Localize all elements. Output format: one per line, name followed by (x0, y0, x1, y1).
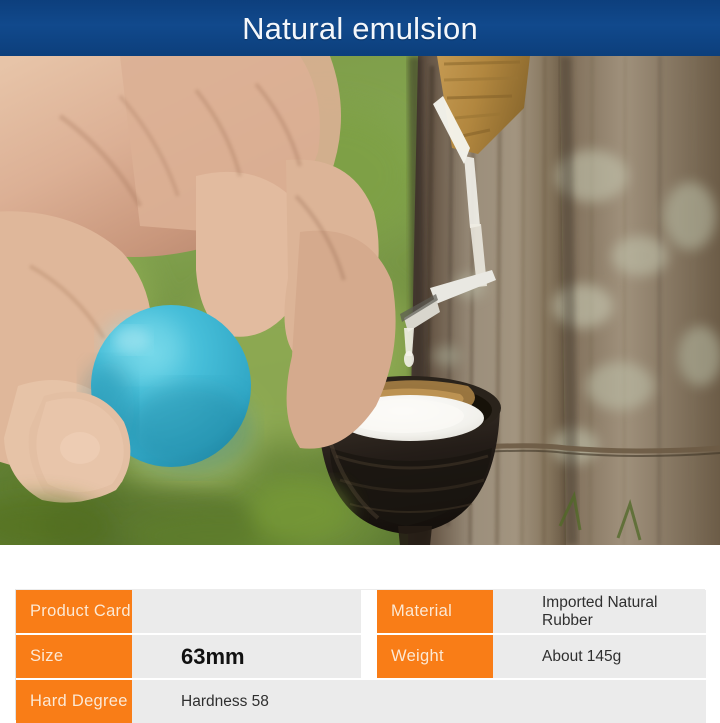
spec-label-material: Material (377, 590, 493, 633)
spec-value-product-card (132, 590, 361, 633)
spec-table: Product Card Material Imported Natural R… (15, 589, 705, 720)
column-gap (361, 635, 377, 678)
spec-value-material: Imported Natural Rubber (493, 590, 706, 633)
table-row: Hard Degree Hardness 58 (16, 680, 706, 723)
column-gap (361, 590, 377, 633)
product-listing-page: Natural emulsion (0, 0, 720, 720)
spec-label-product-card: Product Card (16, 590, 132, 633)
spec-label-hard-degree: Hard Degree (16, 680, 132, 723)
page-title: Natural emulsion (242, 13, 478, 44)
spec-label-weight: Weight (377, 635, 493, 678)
table-row: Product Card Material Imported Natural R… (16, 590, 706, 633)
spec-value-weight: About 145g (493, 635, 706, 678)
spec-value-size: 63mm (132, 635, 361, 678)
spec-value-hard-degree: Hardness 58 (132, 680, 706, 723)
product-photo (0, 56, 720, 545)
banner: Natural emulsion (0, 0, 720, 56)
table-row: Size 63mm Weight About 145g (16, 635, 706, 678)
product-photo-image (0, 56, 720, 545)
spec-label-size: Size (16, 635, 132, 678)
